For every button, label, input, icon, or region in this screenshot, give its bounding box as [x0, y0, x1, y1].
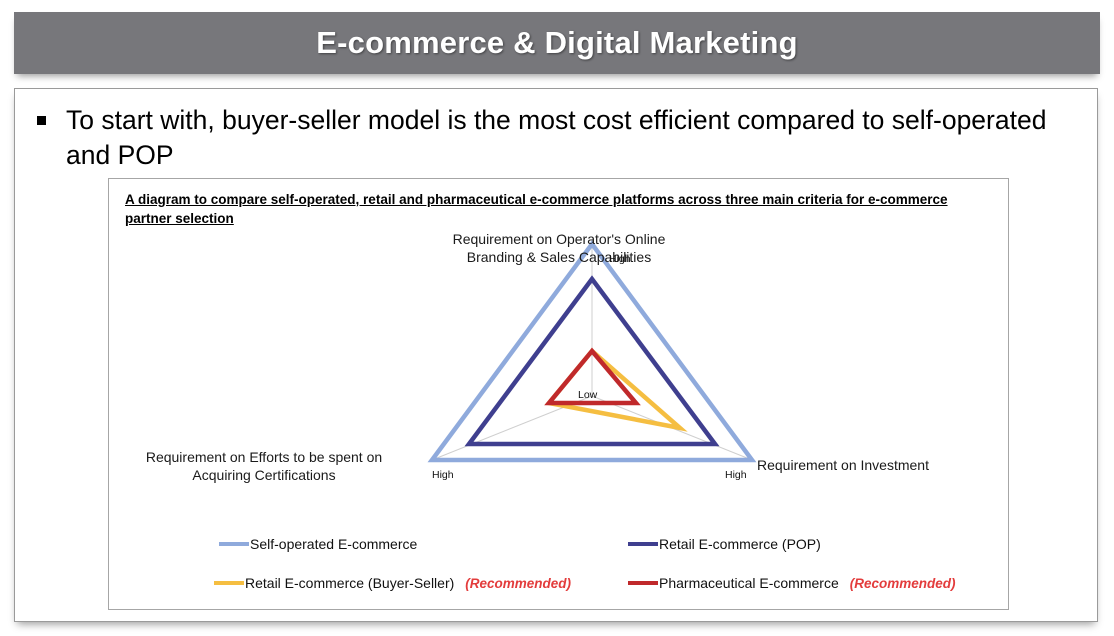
legend-item-label: Self-operated E-commerce [250, 536, 417, 552]
chart-legend: Self-operated E-commerce Retail E-commer… [109, 534, 1008, 606]
legend-swatch-icon [219, 542, 249, 546]
legend-item[interactable]: Retail E-commerce (Buyer-Seller) (Recomm… [214, 575, 571, 591]
scale-tick-center: Low [578, 389, 597, 401]
legend-swatch-icon [628, 581, 658, 585]
legend-item-tag: (Recommended) [850, 576, 956, 591]
slide-header-banner: E-commerce & Digital Marketing [14, 12, 1100, 74]
axis-label-branding-sales: Requirement on Operator's Online Brandin… [359, 231, 759, 266]
bullet-row: To start with, buyer-seller model is the… [37, 103, 1079, 173]
legend-swatch-icon [628, 542, 658, 546]
legend-item[interactable]: Self-operated E-commerce [219, 536, 428, 552]
legend-item[interactable]: Pharmaceutical E-commerce (Recommended) [628, 575, 956, 591]
legend-item-label: Retail E-commerce (POP) [659, 536, 821, 552]
chart-title: A diagram to compare self-operated, reta… [125, 190, 995, 228]
bullet-text: To start with, buyer-seller model is the… [66, 103, 1079, 173]
radar-chart-plot: Requirement on Operator's Online Brandin… [109, 231, 1008, 501]
square-bullet-icon [37, 116, 46, 125]
axis-label-investment: Requirement on Investment [757, 457, 1017, 475]
legend-item-tag: (Recommended) [465, 576, 571, 591]
legend-item-label: Retail E-commerce (Buyer-Seller) [245, 575, 454, 591]
chart-container: A diagram to compare self-operated, reta… [108, 178, 1009, 610]
scale-tick-top: High [609, 253, 631, 265]
legend-item-label: Pharmaceutical E-commerce [659, 575, 839, 591]
scale-tick-right: High [725, 469, 747, 481]
radar-series-buyer-seller [549, 351, 680, 428]
scale-tick-left: High [432, 469, 454, 481]
legend-item[interactable]: Retail E-commerce (POP) [628, 536, 832, 552]
slide-content-panel: To start with, buyer-seller model is the… [14, 88, 1098, 622]
axis-label-certifications: Requirement on Efforts to be spent on Ac… [114, 449, 414, 484]
slide-title: E-commerce & Digital Marketing [316, 25, 797, 61]
legend-swatch-icon [214, 581, 244, 585]
